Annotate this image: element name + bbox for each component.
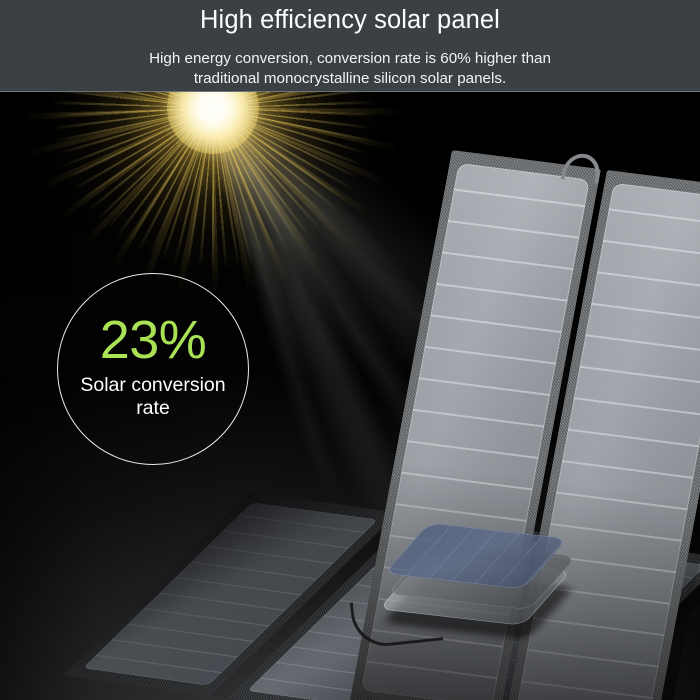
conversion-rate-badge: 23% Solar conversion rate [57,273,249,465]
subtitle-line-1: High energy conversion, conversion rate … [0,48,700,69]
page-title: High efficiency solar panel [0,4,700,36]
subtitle-line-2: traditional monocrystalline silicon sola… [0,68,700,89]
conversion-rate-label: Solar conversion rate [62,374,244,420]
product-banner: 23% Solar conversion rate High efficienc… [0,0,700,700]
product-photo: 23% Solar conversion rate [0,92,700,700]
conversion-rate-value: 23% [100,313,207,367]
header-banner: High efficiency solar panel High energy … [0,0,700,92]
